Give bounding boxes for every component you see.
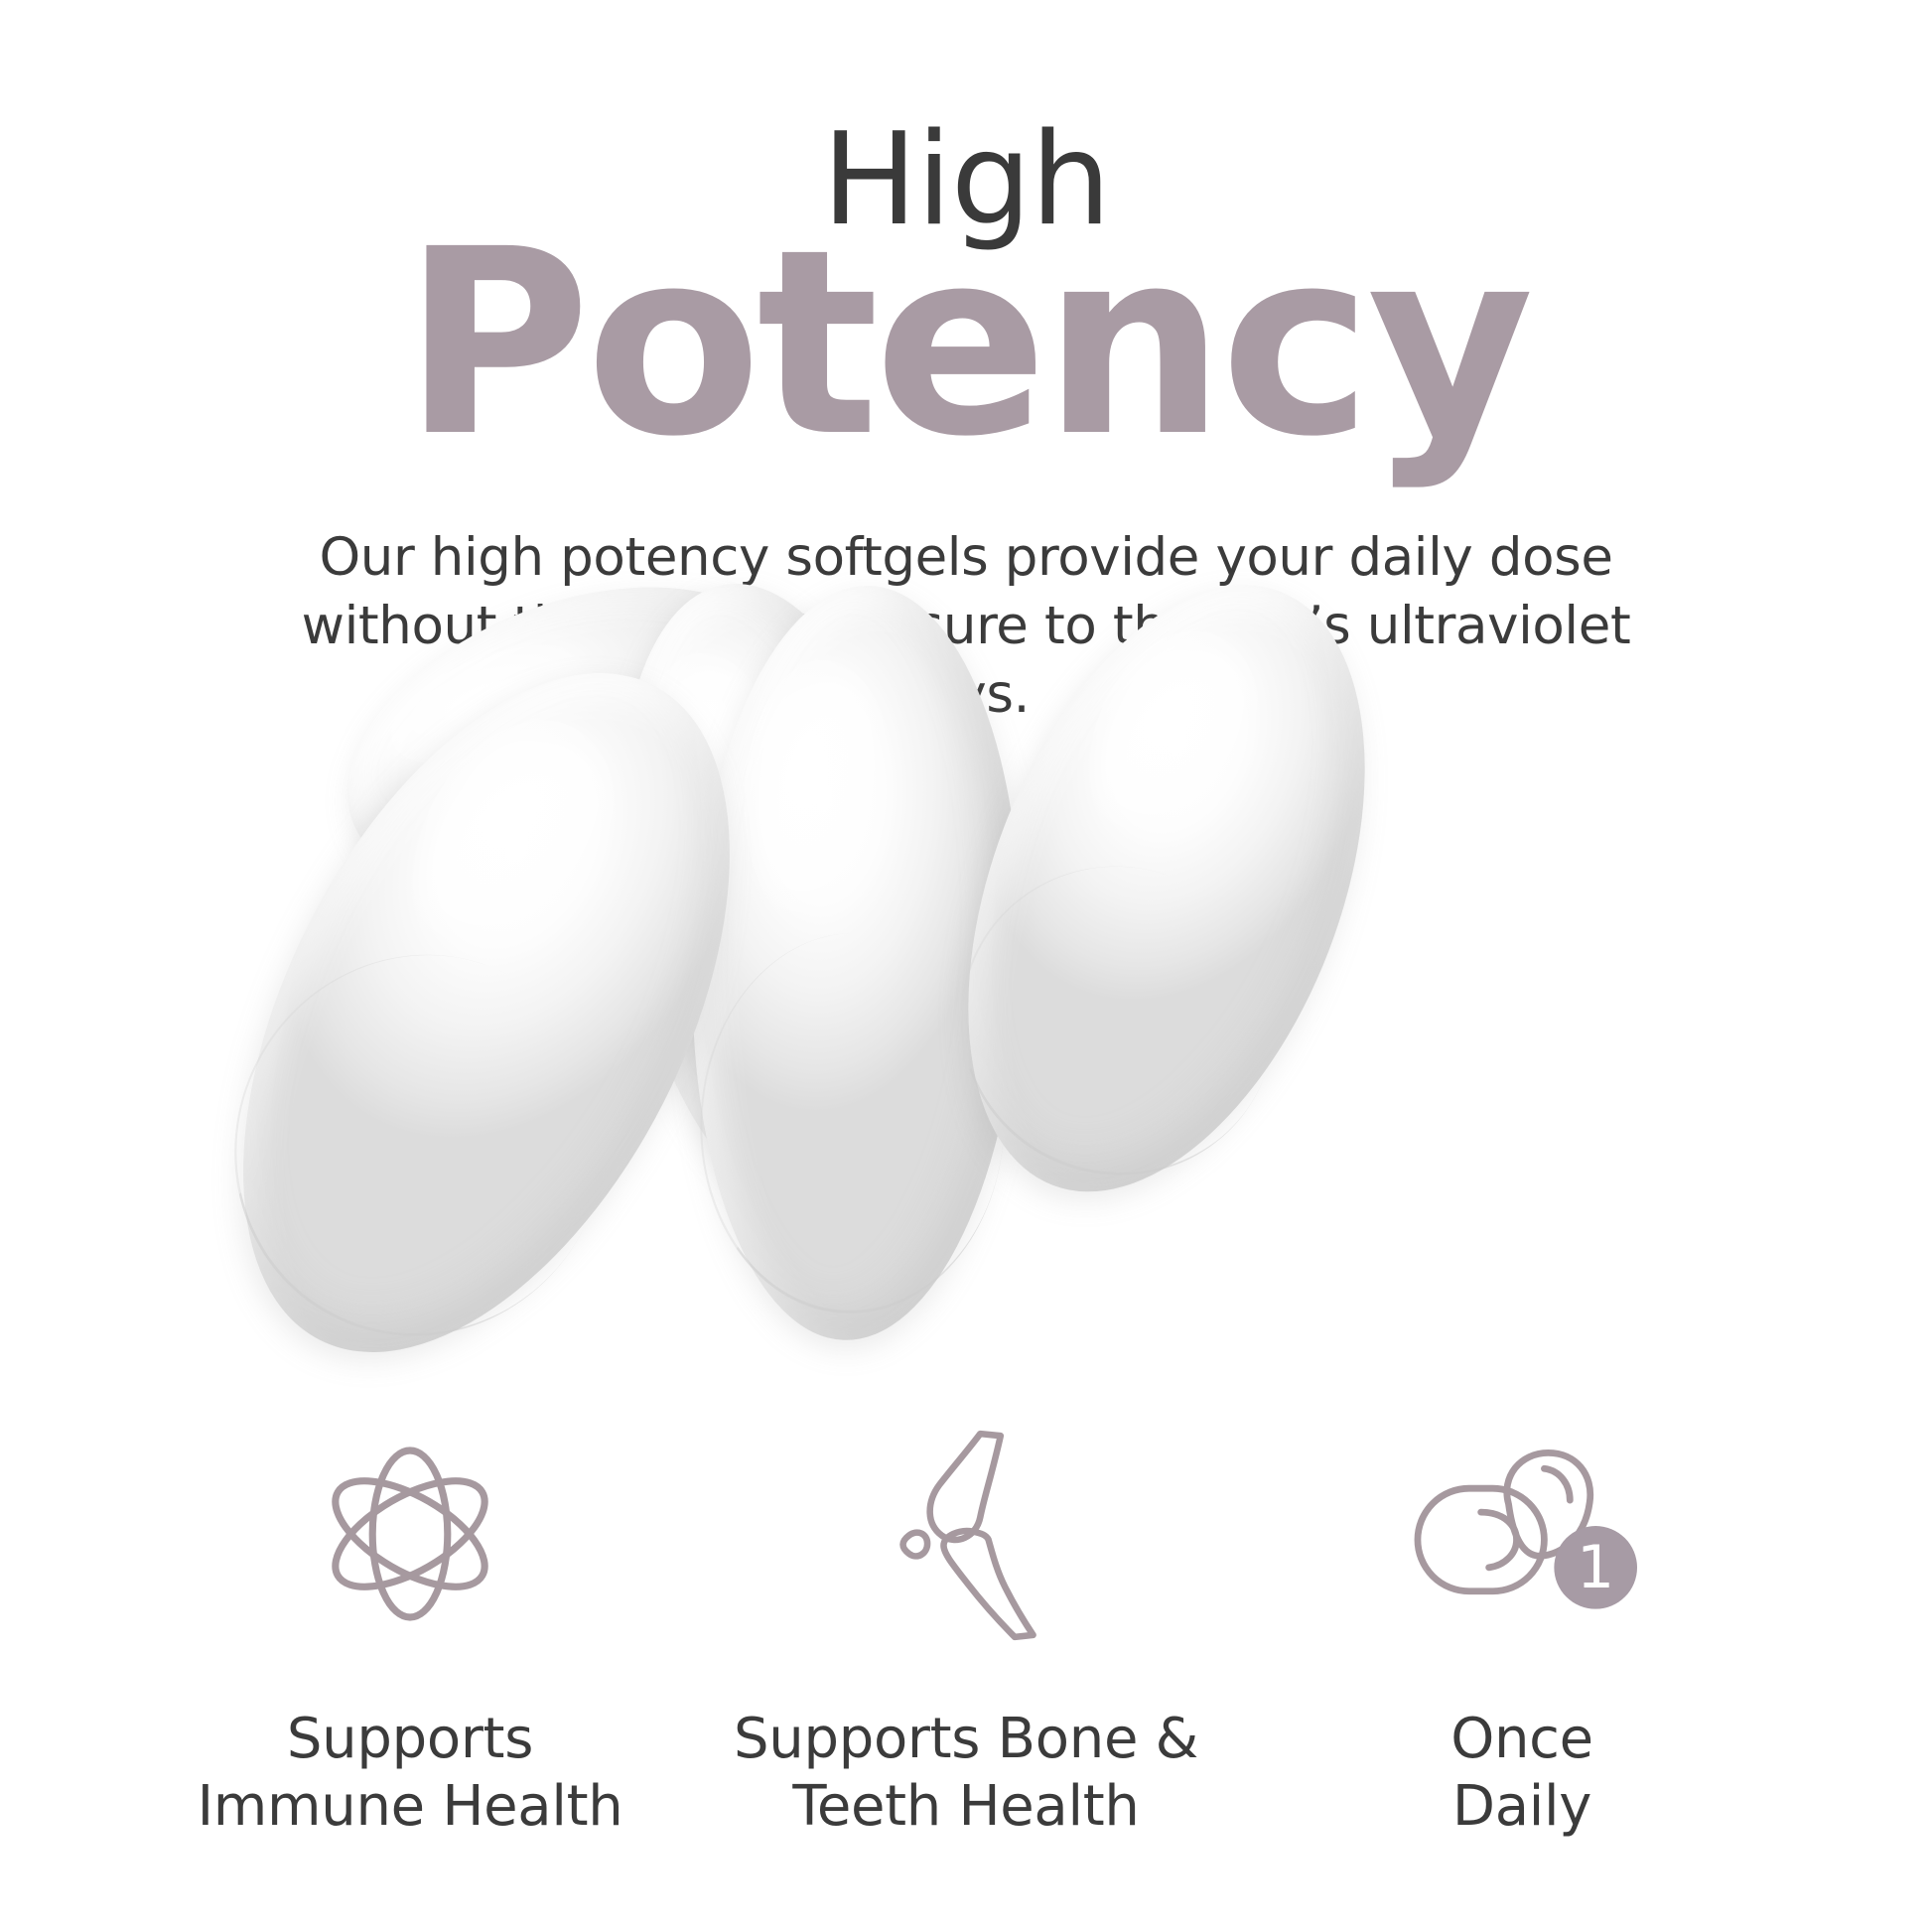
product-feature-panel: High Potency Our high potency softgels p… [0, 0, 1932, 1932]
softgel-product-image [298, 695, 1579, 1390]
knee-joint-icon [872, 1420, 1060, 1648]
feature-label-line-1: Supports Bone & [734, 1707, 1198, 1771]
headline-main-line: Potency [0, 226, 1932, 462]
feature-once-daily: 1 Once Daily [1244, 1420, 1800, 1842]
badge-count: 1 [1577, 1534, 1614, 1602]
capsule-seam [694, 927, 1011, 1317]
feature-label-line-1: Once [1450, 1707, 1593, 1771]
feature-label-line-1: Supports [287, 1707, 533, 1771]
capsule-seam [169, 891, 671, 1401]
subheading-line-1: Our high potency softgels provide your d… [319, 527, 1612, 588]
feature-row: Supports Immune Health [0, 1420, 1932, 1842]
feature-label-line-2: Daily [1450, 1773, 1593, 1841]
headline-block: High Potency [0, 117, 1932, 462]
feature-bone-teeth-health: Supports Bone & Teeth Health [688, 1420, 1244, 1842]
feature-label-line-2: Teeth Health [734, 1773, 1198, 1841]
softgel-pills-icon: 1 [1406, 1420, 1639, 1648]
feature-label-once-daily: Once Daily [1450, 1706, 1593, 1842]
feature-immune-health: Supports Immune Health [132, 1420, 688, 1842]
feature-label-immune: Supports Immune Health [198, 1706, 623, 1842]
atom-icon [306, 1420, 514, 1648]
feature-label-line-2: Immune Health [198, 1773, 623, 1841]
feature-label-bone-teeth: Supports Bone & Teeth Health [734, 1706, 1198, 1842]
